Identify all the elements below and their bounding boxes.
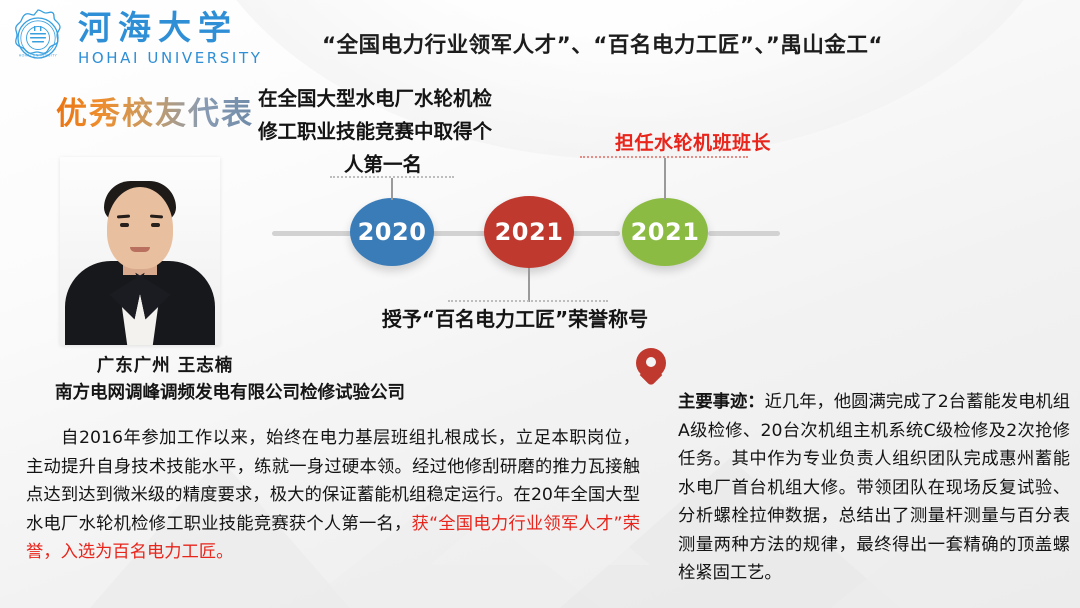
timeline-rail-right	[708, 231, 780, 236]
section-title: 优秀校友代表	[56, 88, 254, 133]
timeline-stem-1	[391, 178, 393, 200]
slide-canvas: HOHAI UNIVERSITY 河海大学 HOHAI UNIVERSITY 优…	[0, 0, 1080, 608]
left-paragraph: 自2016年参加工作以来，始终在电力基层班组扎根成长，立足本职岗位，主动提升自身…	[26, 424, 640, 567]
svg-text:HOHAI UNIVERSITY: HOHAI UNIVERSITY	[19, 54, 58, 58]
timeline-node-year: 2021	[631, 218, 700, 246]
timeline-node-2020[interactable]: 2020	[350, 198, 434, 266]
timeline-stem-2	[528, 268, 530, 302]
timeline-rail-mid1	[432, 231, 488, 236]
timeline-dotline-red	[580, 156, 748, 158]
right-paragraph-text: 近几年，他圆满完成了2台蓄能发电机组A级检修、20台次机组主机系统C级检修及2次…	[678, 392, 1070, 583]
timeline-node-2021-b[interactable]: 2021	[622, 198, 708, 266]
university-name-en: HOHAI UNIVERSITY	[78, 51, 262, 66]
right-paragraph: 主要事迹：近几年，他圆满完成了2台蓄能发电机组A级检修、20台次机组主机系统C级…	[678, 388, 1070, 588]
timeline-dotline-bottom	[448, 300, 608, 302]
university-name-cn: 河海大学	[78, 11, 262, 44]
caption-left-line3: 人第一名	[258, 148, 508, 181]
hohai-seal-icon: HOHAI UNIVERSITY	[8, 8, 68, 68]
portrait-photo	[60, 157, 220, 345]
university-branding: HOHAI UNIVERSITY 河海大学 HOHAI UNIVERSITY	[8, 8, 262, 68]
timeline-stem-3	[664, 158, 666, 200]
location-pin-icon	[636, 348, 666, 388]
right-paragraph-label: 主要事迹：	[678, 392, 765, 412]
timeline-rail-mid2	[572, 231, 620, 236]
person-name: 广东广州 王志楠	[0, 352, 330, 377]
timeline-caption-red: 担任水轮机班班长	[578, 128, 808, 155]
timeline-caption-bottom: 授予“百名电力工匠”荣誉称号	[340, 303, 690, 332]
person-organization: 南方电网调峰调频发电有限公司检修试验公司	[0, 379, 460, 404]
headline-awards: “全国电力行业领军人才”、“百名电力工匠”、”禺山金工“	[322, 28, 1002, 59]
caption-left-line2: 修工职业技能竞赛中取得个	[258, 115, 508, 148]
timeline-node-year: 2021	[495, 218, 564, 246]
university-name-block: 河海大学 HOHAI UNIVERSITY	[78, 11, 262, 66]
timeline-rail-left	[272, 231, 360, 236]
timeline-caption-left: 在全国大型水电厂水轮机检 修工职业技能竞赛中取得个 人第一名	[258, 82, 508, 181]
timeline-node-year: 2020	[358, 218, 427, 246]
caption-left-line1: 在全国大型水电厂水轮机检	[258, 82, 508, 115]
timeline-node-2021-a[interactable]: 2021	[484, 196, 574, 268]
